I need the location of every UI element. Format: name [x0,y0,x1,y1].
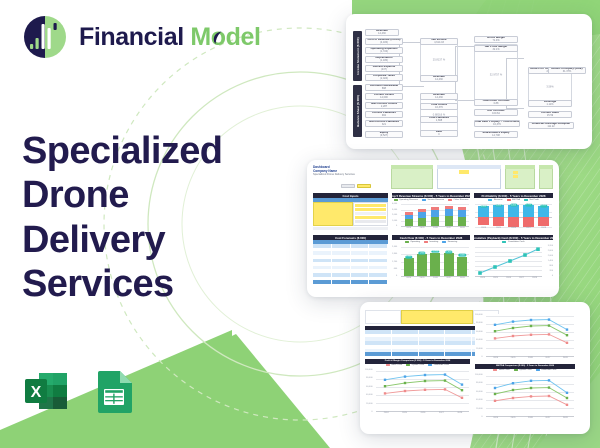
dupont-node: Total Asset Turnover 0.88 [474,99,518,106]
dupont-node: Accounts Receivable 898 [365,84,403,91]
band-income-statement: Income Statement ($ 000) [353,31,362,81]
dupont-node: Cost of Revenue (COGS) (4,184) [365,38,403,45]
chart-legend: Operating Revenue Service Revenue Other … [392,199,470,201]
dupont-node: Depreciation (1,180) [365,56,403,63]
cost-input-cells[interactable] [313,202,353,226]
dupont-node-roe: Return on Equity (ROE) 31.37% [548,67,586,74]
dupont-node: Current Assets 14,090 [365,93,403,100]
band-balance-sheet: Balance Sheet ($ 000) [353,85,362,137]
financial-dashboard-card[interactable]: Dashboard Company Name Specialized Drone… [307,160,559,297]
x-axis-labels: 20242025 20262027 2028 [377,412,469,414]
x-axis-labels: 20242025 20262027 2028 [476,227,551,229]
chart-revenue-streams: Operating Revenue Service Revenue Other … [392,199,470,231]
title-line-4: Services [22,262,222,306]
update-button[interactable] [357,184,371,188]
dupont-node: Debt 0 [420,130,458,137]
svg-text:X: X [31,384,42,401]
dashboard-heading: Dashboard Company Name Specialized Drone… [313,165,355,176]
chart-revenue-comparison: 100,00080,00060,00040,00020,0000 2024202… [475,374,575,422]
payback-line [475,247,542,276]
dupont-node: Revenue 14,430 [365,29,399,36]
chart-legend: Operating Investing Financing [392,241,470,243]
projections-sheet: EBITDA Comparison ($ 000) - 5 Years to D… [360,302,590,434]
x-axis-labels: 20242025 20262027 2028 [402,277,469,279]
panel-title-payback: Cumulative (Payback) Cash ($ 000) - 5 Ye… [474,235,553,240]
x-axis-labels: 20242025 20262027 2028 [402,227,469,229]
google-sheets-icon[interactable] [90,367,138,415]
panel-title-cash-flow: Cash Flow ($ 000) - 5 Years to December … [392,235,470,240]
pie-chart-bars-logo-icon [22,14,68,60]
brand-word-model-m: M [190,23,210,51]
brand-word-model-o: o [211,25,226,50]
dupont-node: Equity (9,527) [365,131,403,138]
chart-payback: Cumulative Cash 3,2002,6002,000 [474,241,553,283]
dupont-analysis-card[interactable]: Income Statement ($ 000) Balance Sheet (… [346,14,592,149]
page-title: Specialized Drone Delivery Services [22,129,222,307]
dupont-node: Financial Leverage multiplier 111.22 [528,122,574,129]
dupont-node: Total Liabilities 1,668 [420,116,458,123]
dupont-tree: Income Statement ($ 000) Balance Sheet (… [346,14,592,149]
panel-title-profitability: Profitability ($ 000) - 5 Years to Decem… [474,193,553,198]
dupont-node: Non-Current Liabilities 321 [365,120,403,127]
microsoft-excel-icon[interactable]: X [22,367,70,415]
cost-forecast-table [313,244,388,284]
chart-legend: Revenue EBITDA Net Profit [474,199,553,201]
chart-legend: Base Case Upside Case Downside Case [365,364,470,366]
brand-wordmark: Financial Model [79,25,261,50]
chart-legend: Base Case Upside Case Downside Case [475,369,575,371]
scenario-input-cells[interactable] [401,310,473,324]
dupont-node: Revenue 14,430 [420,93,458,100]
leaf-icon [213,31,224,44]
title-line-2: Drone [22,173,222,217]
dashboard-sheet: Dashboard Company Name Specialized Drone… [307,160,559,297]
dupont-node: Interest Expense (437) [365,65,403,72]
dupont-ratio-group: 32.9757 % [474,44,518,106]
panel-title-ebitda-comparison: EBITDA Comparison ($ 000) - 5 Years to D… [475,364,575,369]
brand-logo[interactable]: Financial Model [22,14,261,60]
dupont-node: Net Profit Margin 32.1% [474,45,518,52]
comparison-lines [487,316,573,356]
dupont-node: Shareholders Equity 14,708 [474,131,518,138]
dupont-node: Revenue 14,430 [420,75,458,82]
dupont-node: Current Ratio 15.59 [528,111,572,118]
stacked-bars [402,204,469,226]
chart-cash-flow: Operating Investing Financing 2,4001,800… [392,241,470,283]
projections-card[interactable]: EBITDA Comparison ($ 000) - 5 Years to D… [360,302,590,434]
dupont-node: Non-Current Assets 2,287 [365,102,403,109]
profit-bars: 2,100 2,400 2,600 [476,204,551,227]
chart-ebitda-comparison-top: 100,00080,00060,00040,00020,0000 2024202… [475,314,575,362]
file-format-icons: X [22,367,138,415]
chart-profit-margin-comparison: 100,00080,00060,00040,00020,0000 2024202… [365,369,470,417]
table-label-column [365,310,401,324]
dupont-node: Operating Expenses (1,724) [365,47,403,54]
title-line-3: Delivery [22,218,222,262]
x-axis-labels: 20242025 20262027 2028 [487,357,574,359]
panel-title-revenue-streams: Top 5 Revenue Streams ($ 000) - 5 Years … [392,193,470,198]
chart-profitability: Revenue EBITDA Net Profit 2,100 [474,199,553,231]
chart-legend: Cumulative Cash [474,241,553,243]
brand-word-financial: Financial [79,23,184,51]
cashflow-bars: 1,500 1,800 1,950 1,900 1,600 [402,247,469,276]
dupont-node: Current Liabilities 902 [365,111,403,118]
slide-canvas: Financial Model Specialized Drone Delive… [0,0,600,448]
x-axis-labels: 20242025 20262027 2028 [476,277,541,279]
x-axis-labels: 20242025 20262027 2028 [487,417,574,419]
dupont-node: Gross Margin 71.0% [474,36,518,43]
dupont-node: Corporate Taxes (2,024) [365,74,403,81]
dupont-node: Net Income 4,614.03 [420,38,458,45]
panel-title-profit-margin: Profit & Margin Comparison ($ 000) - 5 Y… [365,359,470,364]
reset-button[interactable] [341,184,355,188]
dupont-node: A/R Turnover 160.64 [474,109,518,116]
dupont-node: Leverage 1.11% [528,100,572,107]
comparison-lines [487,376,573,416]
comparison-lines [377,371,468,411]
brand-word-model-del: del [226,23,261,51]
title-line-1: Specialized [22,129,222,173]
dupont-node: Total Assets 16,376 [420,103,458,110]
dupont-node: Total Debt + Equity = Total Assets 16,37… [474,120,520,127]
